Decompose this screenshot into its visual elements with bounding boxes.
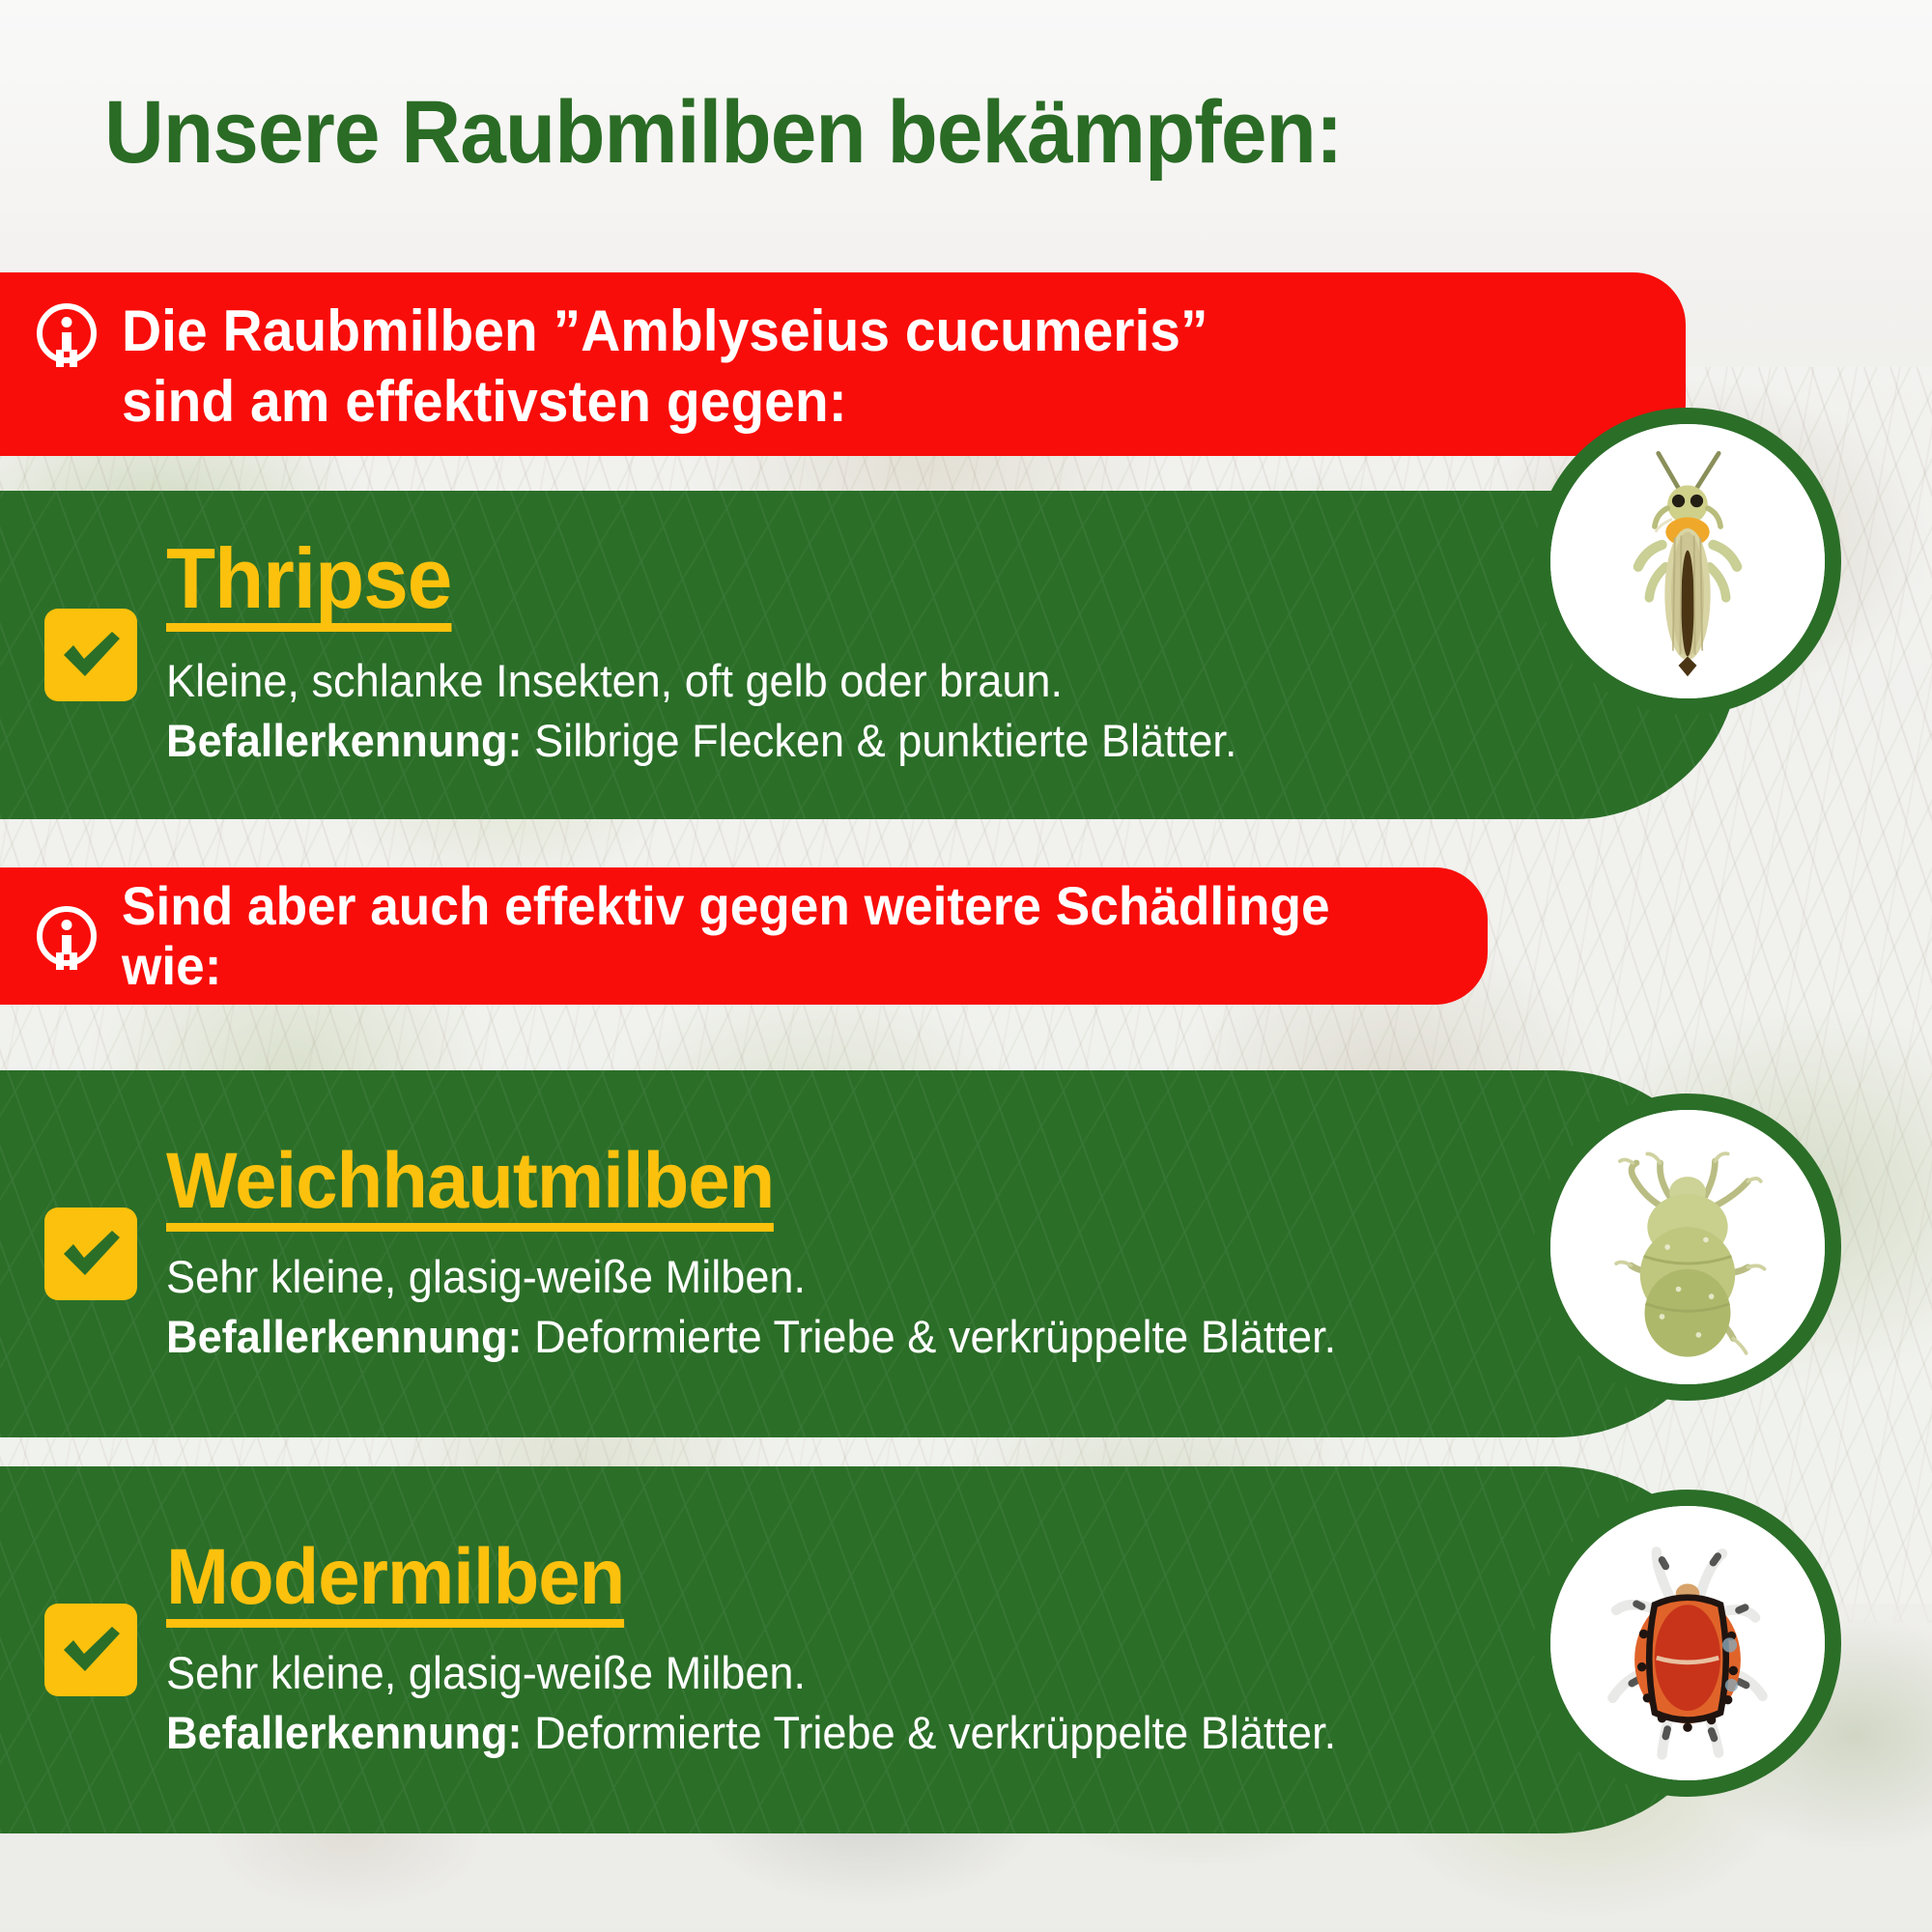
info-icon bbox=[37, 906, 97, 966]
pest-card-thripse-detection: Befallerkennung: Silbrige Flecken & punk… bbox=[166, 711, 1676, 770]
info-icon bbox=[37, 303, 97, 363]
thrips-photo bbox=[1534, 408, 1841, 715]
pest-card-modermilben-detection-label: Befallerkennung: bbox=[166, 1707, 523, 1758]
pest-card-weichhautmilben-detection-text: Deformierte Triebe & verkrüppelte Blätte… bbox=[523, 1311, 1337, 1362]
pest-card-thripse-description: Kleine, schlanke Insekten, oft gelb oder… bbox=[166, 651, 1676, 710]
checkmark-icon bbox=[44, 1604, 137, 1696]
pest-card-thripse-detection-label: Befallerkennung: bbox=[166, 715, 523, 766]
pest-card-weichhautmilben-detection-label: Befallerkennung: bbox=[166, 1311, 523, 1362]
info-banner-primary: Die Raubmilben ”Amblyseius cucumeris” si… bbox=[0, 272, 1686, 456]
pest-card-weichhautmilben-description: Sehr kleine, glasig-weiße Milben. bbox=[166, 1247, 1676, 1306]
pest-card-modermilben-description: Sehr kleine, glasig-weiße Milben. bbox=[166, 1643, 1676, 1702]
pest-card-thripse: Thripse Kleine, schlanke Insekten, oft g… bbox=[0, 491, 1739, 819]
pest-card-weichhautmilben: Weichhautmilben Sehr kleine, glasig-weiß… bbox=[0, 1070, 1739, 1437]
pest-card-thripse-detection-text: Silbrige Flecken & punktierte Blätter. bbox=[523, 715, 1237, 766]
pest-card-modermilben-detection: Befallerkennung: Deformierte Triebe & ve… bbox=[166, 1703, 1676, 1762]
checkmark-icon bbox=[44, 1207, 137, 1300]
checkmark-icon bbox=[44, 609, 137, 701]
pest-card-weichhautmilben-title: Weichhautmilben bbox=[166, 1142, 774, 1232]
poster-root: Unsere Raubmilben bekämpfen: Die Raubmil… bbox=[0, 0, 1932, 1932]
pest-card-weichhautmilben-detection: Befallerkennung: Deformierte Triebe & ve… bbox=[166, 1307, 1676, 1366]
page-title: Unsere Raubmilben bekämpfen: bbox=[104, 82, 1342, 184]
soft-mite-photo bbox=[1534, 1094, 1841, 1401]
pest-card-modermilben-detection-text: Deformierte Triebe & verkrüppelte Blätte… bbox=[523, 1707, 1337, 1758]
red-mite-photo bbox=[1534, 1490, 1841, 1797]
pest-card-thripse-title: Thripse bbox=[166, 536, 451, 632]
pest-card-modermilben-title: Modermilben bbox=[166, 1538, 624, 1628]
info-banner-primary-text: Die Raubmilben ”Amblyseius cucumeris” si… bbox=[122, 296, 1208, 437]
pest-card-modermilben: Modermilben Sehr kleine, glasig-weiße Mi… bbox=[0, 1466, 1739, 1833]
info-banner-secondary-text: Sind aber auch effektiv gegen weitere Sc… bbox=[122, 876, 1382, 995]
info-banner-secondary: Sind aber auch effektiv gegen weitere Sc… bbox=[0, 867, 1488, 1005]
